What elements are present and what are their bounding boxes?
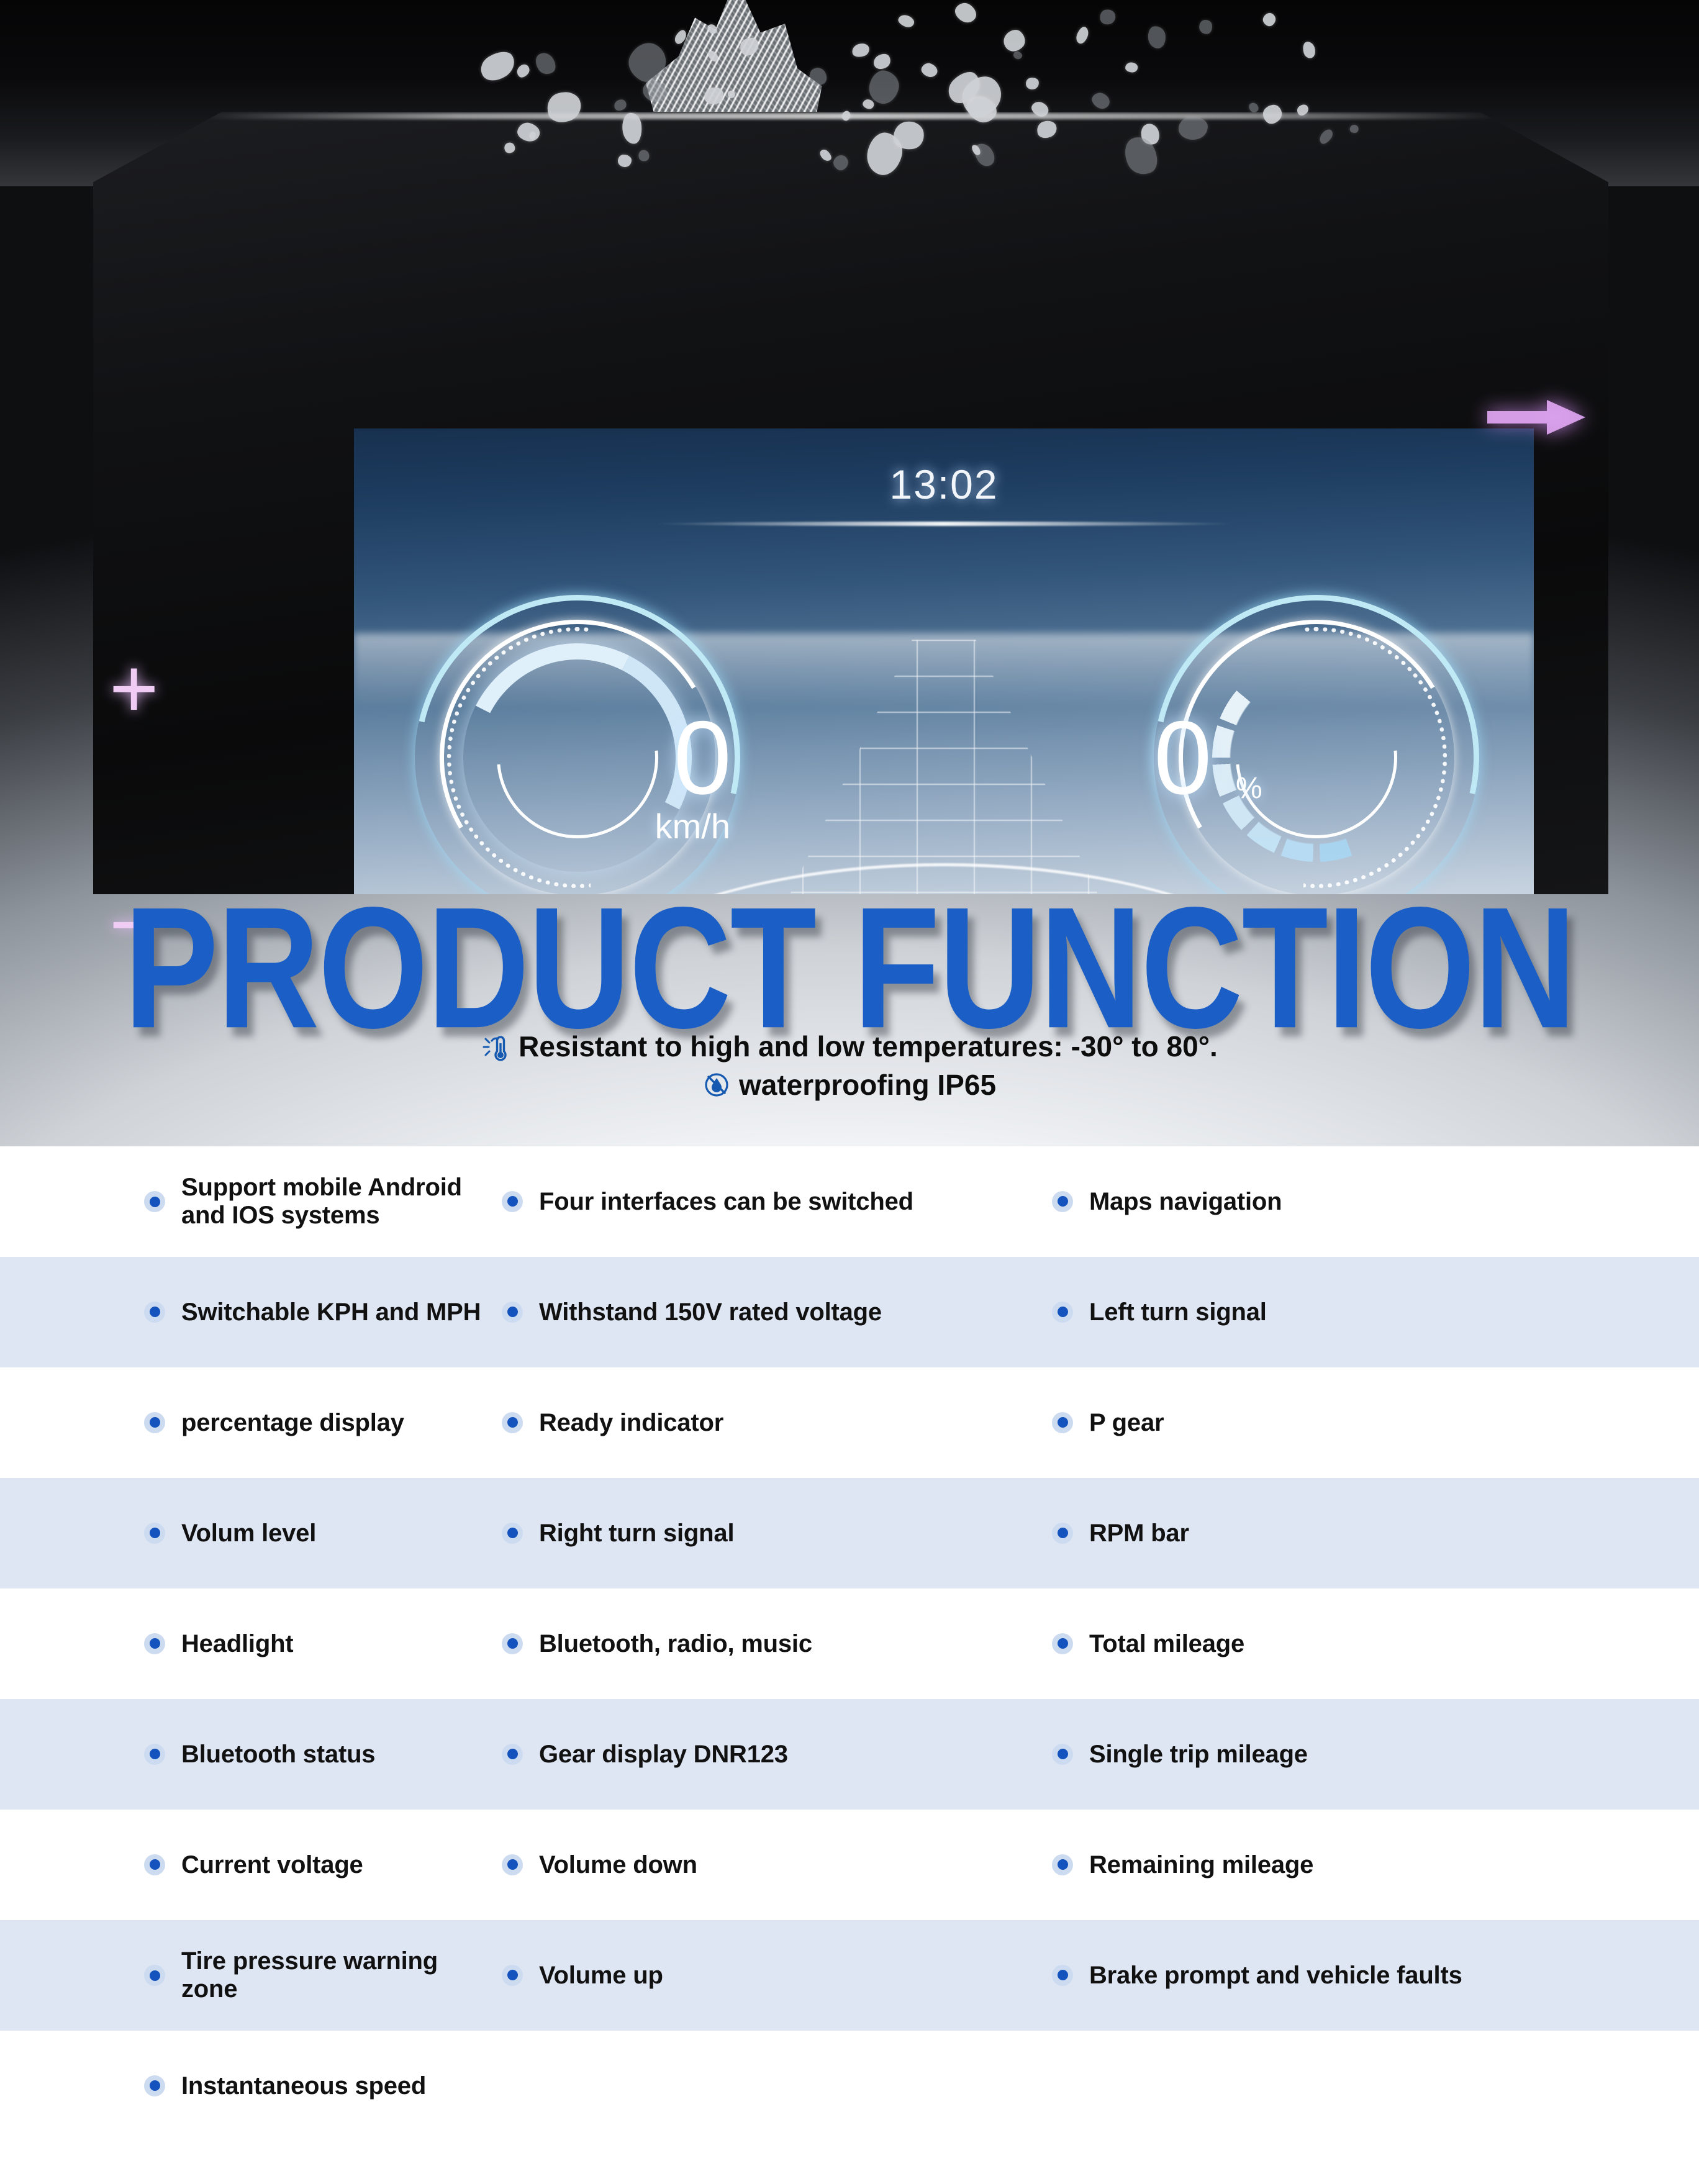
bullet-icon	[502, 1965, 523, 1986]
subtitle-line-temperature: Resistant to high and low temperatures: …	[0, 1028, 1699, 1066]
feature-label: Volum level	[181, 1520, 316, 1547]
page-title-wrap: PRODUCT FUNCTION	[0, 882, 1699, 1023]
soc-unit: %	[1236, 771, 1262, 805]
feature-item[interactable]: Support mobile Android and IOS systems	[0, 1174, 491, 1230]
bullet-icon	[144, 1523, 165, 1544]
gravel-chip	[1125, 62, 1138, 72]
bullet-icon	[144, 1191, 165, 1212]
feature-label: Volume down	[539, 1851, 697, 1879]
feature-row: Current voltageVolume downRemaining mile…	[0, 1810, 1699, 1920]
bullet-icon	[1052, 1302, 1073, 1323]
feature-label: Right turn signal	[539, 1520, 734, 1547]
bullet-icon	[144, 1412, 165, 1433]
subtitle-temperature-text: Resistant to high and low temperatures: …	[519, 1028, 1218, 1066]
feature-label: Bluetooth status	[181, 1741, 375, 1769]
feature-item[interactable]: Gear display DNR123	[491, 1741, 1043, 1769]
feature-item[interactable]: Headlight	[0, 1630, 491, 1658]
feature-item[interactable]: Maps navigation	[1043, 1188, 1699, 1216]
feature-row: percentage displayReady indicatorP gear	[0, 1367, 1699, 1478]
subtitle-line-waterproof: waterproofing IP65	[0, 1066, 1699, 1105]
bullet-icon	[502, 1854, 523, 1875]
feature-label: percentage display	[181, 1409, 404, 1437]
bullet-icon	[502, 1191, 523, 1212]
feature-label: Maps navigation	[1089, 1188, 1282, 1216]
bullet-icon	[144, 1854, 165, 1875]
feature-item[interactable]: Withstand 150V rated voltage	[491, 1298, 1043, 1326]
bullet-icon	[502, 1633, 523, 1654]
bullet-icon	[144, 1744, 165, 1765]
feature-row: Switchable KPH and MPHWithstand 150V rat…	[0, 1257, 1699, 1367]
feature-item[interactable]: Right turn signal	[491, 1520, 1043, 1547]
feature-item[interactable]: Brake prompt and vehicle faults	[1043, 1962, 1699, 1990]
feature-item[interactable]: Current voltage	[0, 1851, 491, 1879]
subtitle-block: Resistant to high and low temperatures: …	[0, 1028, 1699, 1104]
gravel-chip	[618, 154, 632, 167]
feature-label: Remaining mileage	[1089, 1851, 1313, 1879]
feature-row: Volum levelRight turn signalRPM bar	[0, 1478, 1699, 1588]
bullet-icon	[1052, 1191, 1073, 1212]
bullet-icon	[144, 1965, 165, 1986]
feature-label: Single trip mileage	[1089, 1741, 1308, 1769]
feature-label: Ready indicator	[539, 1409, 723, 1437]
bullet-icon	[144, 1302, 165, 1323]
feature-item[interactable]: Left turn signal	[1043, 1298, 1699, 1326]
soc-value: 0	[1154, 705, 1212, 810]
feature-label: Support mobile Android and IOS systems	[181, 1174, 491, 1230]
bullet-icon	[502, 1412, 523, 1433]
feature-label: Gear display DNR123	[539, 1741, 788, 1769]
feature-item[interactable]: Volum level	[0, 1520, 491, 1547]
clock-underline	[652, 522, 1236, 526]
bullet-icon	[1052, 1854, 1073, 1875]
feature-item[interactable]: Four interfaces can be switched	[491, 1188, 1043, 1216]
plus-icon: +	[109, 646, 158, 730]
subtitle-waterproof-text: waterproofing IP65	[739, 1066, 996, 1105]
feature-item[interactable]: Volume down	[491, 1851, 1043, 1879]
speed-unit: km/h	[655, 806, 730, 846]
feature-label: P gear	[1089, 1409, 1164, 1437]
bullet-icon	[502, 1302, 523, 1323]
feature-label: Volume up	[539, 1962, 663, 1990]
instrument-cluster-device: 13:02 0 km/h 0 % N RANGE: 0k	[93, 112, 1608, 894]
bullet-icon	[1052, 1965, 1073, 1986]
temperature-icon	[481, 1032, 510, 1062]
feature-item[interactable]: P gear	[1043, 1409, 1699, 1437]
feature-label: RPM bar	[1089, 1520, 1189, 1547]
feature-item[interactable]: Switchable KPH and MPH	[0, 1298, 491, 1326]
bullet-icon	[144, 1633, 165, 1654]
feature-row: Bluetooth statusGear display DNR123Singl…	[0, 1699, 1699, 1810]
feature-label: Bluetooth, radio, music	[539, 1630, 812, 1658]
bullet-icon	[1052, 1633, 1073, 1654]
feature-item[interactable]: Single trip mileage	[1043, 1741, 1699, 1769]
feature-label: Current voltage	[181, 1851, 363, 1879]
feature-item[interactable]: RPM bar	[1043, 1520, 1699, 1547]
feature-label: Withstand 150V rated voltage	[539, 1298, 882, 1326]
clock-display: 13:02	[354, 461, 1534, 508]
feature-row: Instantaneous speed	[0, 2031, 1699, 2141]
feature-label: Total mileage	[1089, 1630, 1244, 1658]
feature-item[interactable]: percentage display	[0, 1409, 491, 1437]
feature-label: Tire pressure warning zone	[181, 1947, 491, 2003]
feature-item[interactable]: Volume up	[491, 1962, 1043, 1990]
speed-value: 0	[674, 705, 732, 810]
feature-item[interactable]: Tire pressure warning zone	[0, 1947, 491, 2003]
bullet-icon	[1052, 1744, 1073, 1765]
feature-row: Support mobile Android and IOS systemsFo…	[0, 1146, 1699, 1257]
bullet-icon	[1052, 1523, 1073, 1544]
feature-label: Left turn signal	[1089, 1298, 1267, 1326]
feature-item[interactable]: Total mileage	[1043, 1630, 1699, 1658]
feature-item[interactable]: Bluetooth, radio, music	[491, 1630, 1043, 1658]
right-turn-arrow-icon	[1487, 397, 1587, 437]
feature-list: Support mobile Android and IOS systemsFo…	[0, 1146, 1699, 2141]
bullet-icon	[144, 2075, 165, 2096]
feature-item[interactable]: Remaining mileage	[1043, 1851, 1699, 1879]
feature-label: Instantaneous speed	[181, 2072, 426, 2100]
feature-label: Four interfaces can be switched	[539, 1188, 913, 1216]
feature-label: Headlight	[181, 1630, 293, 1658]
waterproof-icon	[703, 1071, 730, 1099]
bullet-icon	[502, 1744, 523, 1765]
feature-item[interactable]: Bluetooth status	[0, 1741, 491, 1769]
feature-label: Switchable KPH and MPH	[181, 1298, 481, 1326]
bullet-icon	[502, 1523, 523, 1544]
feature-item[interactable]: Instantaneous speed	[0, 2072, 491, 2100]
feature-row: HeadlightBluetooth, radio, musicTotal mi…	[0, 1588, 1699, 1699]
feature-item[interactable]: Ready indicator	[491, 1409, 1043, 1437]
feature-label: Brake prompt and vehicle faults	[1089, 1962, 1462, 1990]
feature-row: Tire pressure warning zoneVolume upBrake…	[0, 1920, 1699, 2031]
bullet-icon	[1052, 1412, 1073, 1433]
